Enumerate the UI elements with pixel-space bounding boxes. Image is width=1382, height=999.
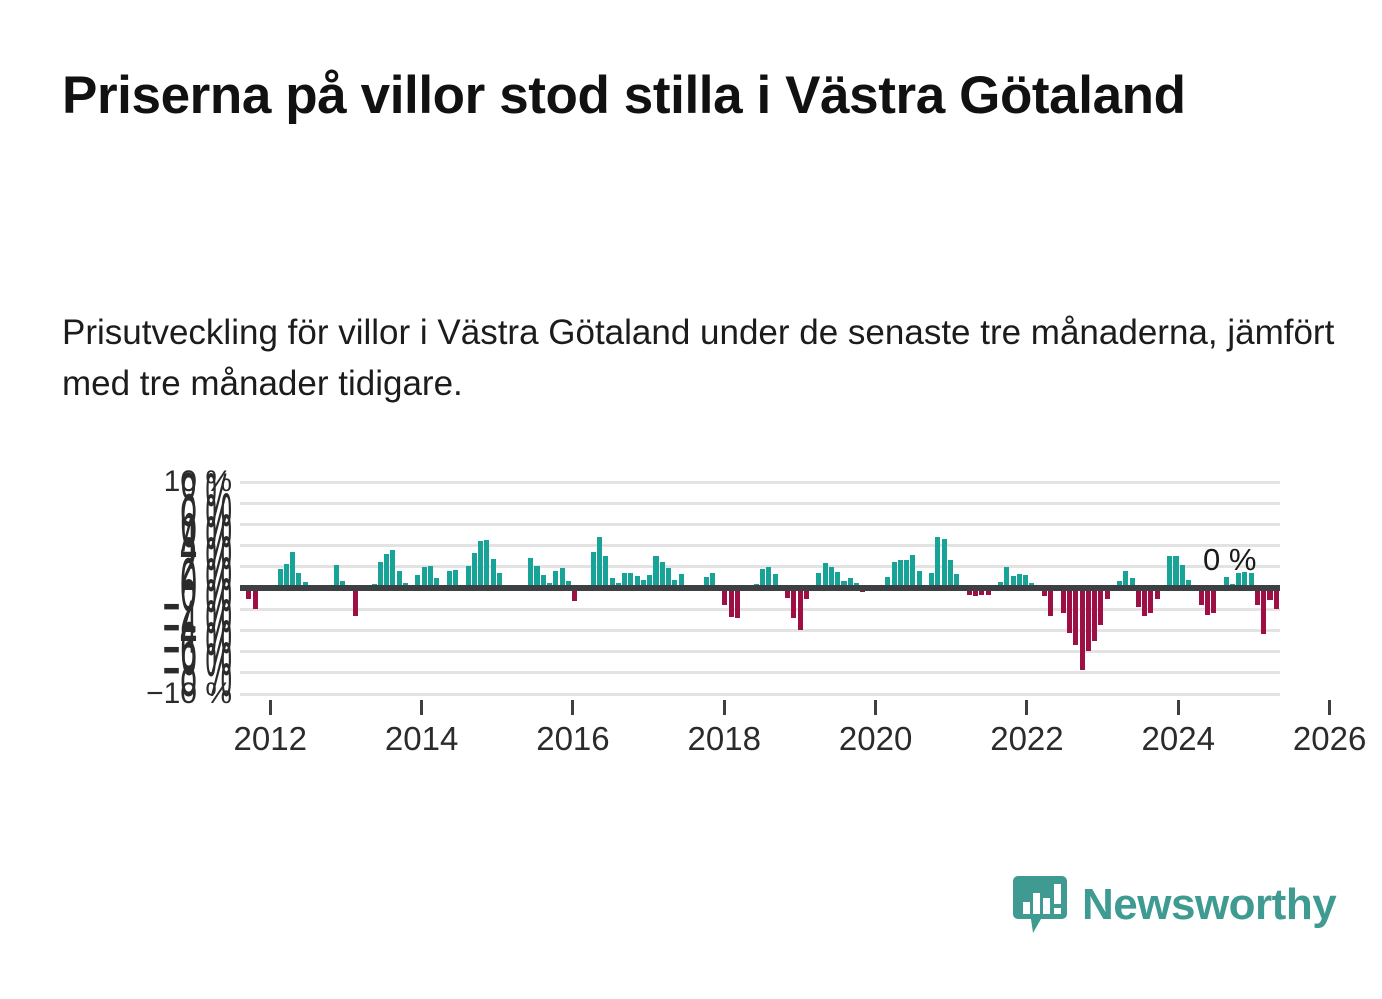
bar [948, 560, 953, 588]
bar [1148, 588, 1153, 613]
bar [910, 555, 915, 588]
bar [729, 588, 734, 617]
bar [1211, 588, 1216, 613]
plot-area [240, 482, 1280, 694]
bar [1098, 588, 1103, 625]
bar [1048, 588, 1053, 616]
bar [653, 556, 658, 588]
bar [1092, 588, 1097, 641]
bar [942, 539, 947, 588]
bar [597, 537, 602, 588]
bar [735, 588, 740, 618]
infographic-page: Priserna på villor stod stilla i Västra … [0, 0, 1382, 999]
x-axis-tick-mark [420, 700, 423, 715]
bar [1061, 588, 1066, 613]
bar [1073, 588, 1078, 645]
bar [1167, 556, 1172, 588]
x-axis-tick-label: 2012 [234, 720, 307, 758]
logo-wordmark: Newsworthy [1082, 883, 1336, 927]
bar [898, 560, 903, 588]
x-axis-tick-mark [874, 700, 877, 715]
x-axis-tick-label: 2022 [990, 720, 1063, 758]
bar [353, 588, 358, 616]
bar [384, 554, 389, 588]
x-axis-tick-mark [723, 700, 726, 715]
bar [472, 553, 477, 588]
bar [1173, 556, 1178, 588]
bar [528, 558, 533, 588]
page-subtitle: Prisutveckling för villor i Västra Götal… [62, 308, 1342, 410]
x-axis-tick-mark [571, 700, 574, 715]
bar [603, 556, 608, 588]
bar [484, 540, 489, 588]
bar [591, 552, 596, 588]
bar-chart-speech-bubble-icon [1012, 874, 1068, 936]
bar [1261, 588, 1266, 634]
bar [904, 560, 909, 588]
x-axis-tick-mark [1025, 700, 1028, 715]
x-axis-tick-label: 2026 [1293, 720, 1366, 758]
x-axis-tick-label: 2016 [536, 720, 609, 758]
x-axis-tick-mark [269, 700, 272, 715]
bar [791, 588, 796, 618]
x-axis-tick-label: 2018 [688, 720, 761, 758]
bar [1080, 588, 1085, 670]
x-axis-tick-mark [1328, 700, 1331, 715]
bar [798, 588, 803, 630]
x-axis-tick-label: 2020 [839, 720, 912, 758]
bar [253, 588, 258, 609]
bar [491, 559, 496, 588]
y-axis-labels: 10 %8 %6 %4 %2 %0 %−2 %−4 %−6 %−8 %−10 % [0, 470, 232, 706]
bar [1205, 588, 1210, 615]
x-axis-tick-mark [1177, 700, 1180, 715]
bar [290, 552, 295, 588]
bar [478, 541, 483, 588]
newsworthy-logo: Newsworthy [1012, 874, 1336, 936]
y-axis-tick-label: −10 % [146, 679, 232, 709]
zero-line [240, 585, 1280, 591]
bar [1274, 588, 1279, 609]
x-axis-tick-label: 2024 [1142, 720, 1215, 758]
bar [1067, 588, 1072, 633]
page-title: Priserna på villor stod stilla i Västra … [62, 66, 1242, 125]
x-axis-tick-label: 2014 [385, 720, 458, 758]
bar [935, 537, 940, 588]
x-axis: 20122014201620182020202220242026 [240, 700, 1280, 770]
bar [390, 550, 395, 588]
bar [1142, 588, 1147, 616]
bar [1086, 588, 1091, 651]
bar-chart: 10 %8 %6 %4 %2 %0 %−2 %−4 %−6 %−8 %−10 %… [0, 470, 1382, 780]
